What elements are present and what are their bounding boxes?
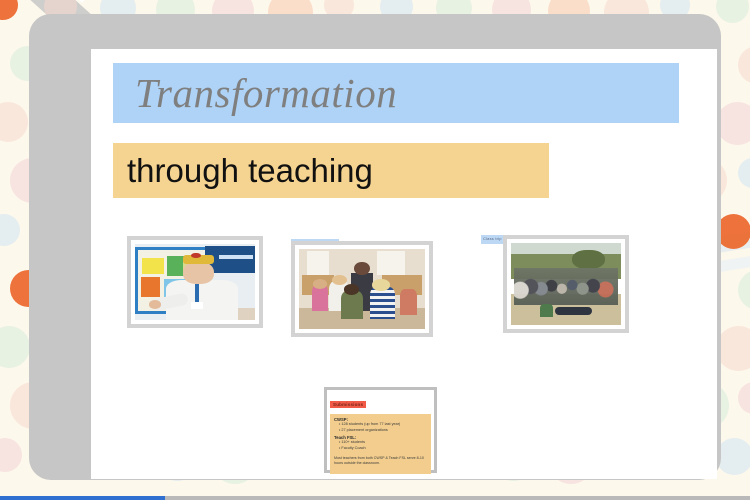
- background-dot: [716, 438, 750, 475]
- background-dot: [716, 214, 750, 249]
- textbox-heading: Submissions: [330, 401, 366, 408]
- photo-content: [511, 243, 621, 325]
- background-dot: [738, 46, 750, 84]
- background-dot: [716, 102, 750, 145]
- background-dot: [716, 326, 750, 371]
- background-dot: [0, 438, 22, 472]
- slide-canvas: Transformation through teaching Annie La…: [91, 49, 717, 479]
- progress-bar-track[interactable]: [0, 496, 750, 500]
- submissions-textbox: Submissions CWSP: • 128 students (up fro…: [324, 387, 437, 473]
- textbox-body: CWSP: • 128 students (up from 77 last ye…: [330, 414, 431, 474]
- background-dot: [0, 214, 20, 246]
- background-dot: [0, 102, 28, 142]
- textbox-note: Most teachers from both CWSP & Teach FSL…: [334, 456, 427, 466]
- subtitle-band: through teaching: [113, 143, 549, 198]
- photo-content: [299, 249, 425, 329]
- progress-bar-fill: [0, 496, 165, 500]
- page-subtitle: through teaching: [113, 154, 373, 187]
- title-band: Transformation: [113, 63, 679, 123]
- background-dot: [738, 382, 750, 414]
- page-title: Transformation: [113, 73, 397, 114]
- photo-content: [135, 244, 255, 320]
- background-dot: [0, 0, 18, 20]
- textbox-list-item: • 27 placement organizations: [339, 428, 427, 434]
- slide-frame: Transformation through teaching Annie La…: [29, 14, 721, 480]
- background-dot: [716, 0, 749, 23]
- photo-group-outdoors: [503, 235, 629, 333]
- background-dot: [738, 270, 750, 310]
- background-dot: [0, 326, 30, 368]
- photo-teacher-with-children: [291, 241, 433, 337]
- background-dot: [738, 158, 750, 188]
- photo-teacher-with-crown: [127, 236, 263, 328]
- textbox-list-item: • Faculty Coach: [339, 446, 427, 452]
